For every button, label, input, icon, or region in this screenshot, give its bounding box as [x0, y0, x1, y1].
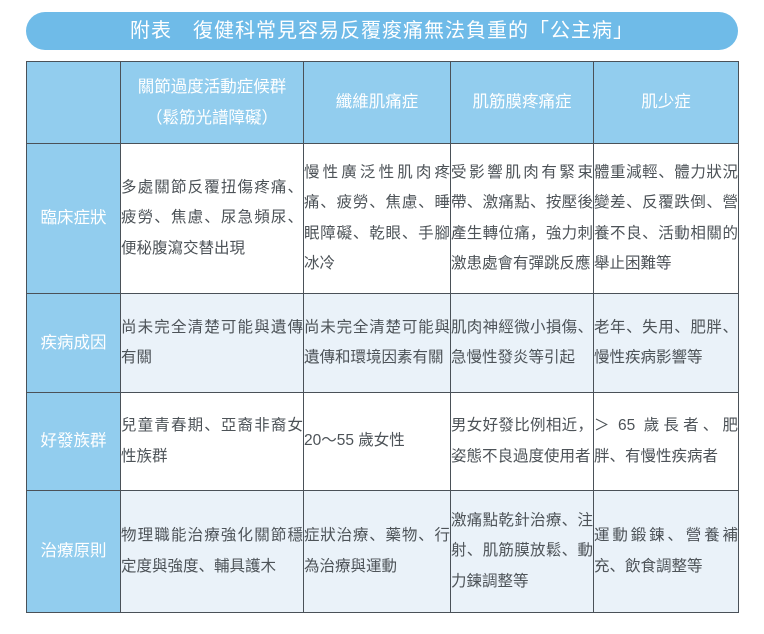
table-title-text: 附表 復健科常見容易反覆痠痛無法負重的「公主病」 [130, 21, 634, 41]
cell-treatment-mps: 激痛點乾針治療、注射、肌筋膜放鬆、動力鍊調整等 [451, 491, 594, 613]
table-row: 疾病成因 尚未完全清楚可能與遺傳有關 尚未完全清楚可能與遺傳和環境因素有關 肌肉… [27, 294, 739, 393]
header-cell-jhs: 關節過度活動症候群 （鬆筋光譜障礙） [121, 62, 304, 144]
cell-risk-sarco: ＞ 65 歲長者、肥胖、有慢性疾病者 [594, 393, 739, 491]
cell-risk-fms: 20～55 歲女性 [304, 393, 451, 491]
disease-comparison-table: 關節過度活動症候群 （鬆筋光譜障礙） 纖維肌痛症 肌筋膜疼痛症 肌少症 臨床症狀… [26, 61, 739, 613]
table-title-banner: 附表 復健科常見容易反覆痠痛無法負重的「公主病」 [26, 12, 738, 50]
header-jhs-line1: 關節過度活動症候群 [121, 72, 303, 103]
cell-symptoms-sarco: 體重減輕、體力狀況變差、反覆跌倒、營養不良、活動相關的舉止困難等 [594, 144, 739, 294]
header-jhs-line2: （鬆筋光譜障礙） [121, 103, 303, 134]
cell-treatment-jhs: 物理職能治療強化關節穩定度與強度、輔具護木 [121, 491, 304, 613]
header-sarco-line1: 肌少症 [594, 87, 738, 118]
cell-cause-mps: 肌肉神經微小損傷、急慢性發炎等引起 [451, 294, 594, 393]
cell-cause-sarco: 老年、失用、肥胖、慢性疾病影響等 [594, 294, 739, 393]
header-fms-line1: 纖維肌痛症 [304, 87, 450, 118]
cell-treatment-sarco: 運動鍛鍊、營養補充、飲食調整等 [594, 491, 739, 613]
header-mps-line1: 肌筋膜疼痛症 [451, 87, 593, 118]
row-label-symptoms: 臨床症狀 [27, 144, 121, 294]
table-row: 好發族群 兒童青春期、亞裔非裔女性族群 20～55 歲女性 男女好發比例相近，姿… [27, 393, 739, 491]
cell-risk-mps: 男女好發比例相近，姿態不良過度使用者 [451, 393, 594, 491]
cell-treatment-fms: 症狀治療、藥物、行為治療與運動 [304, 491, 451, 613]
row-label-treatment: 治療原則 [27, 491, 121, 613]
header-cell-sarco: 肌少症 [594, 62, 739, 144]
cell-symptoms-fms: 慢性廣泛性肌肉疼痛、疲勞、焦慮、睡眠障礙、乾眼、手腳冰冷 [304, 144, 451, 294]
cell-symptoms-jhs: 多處關節反覆扭傷疼痛、疲勞、焦慮、尿急頻尿、便秘腹瀉交替出現 [121, 144, 304, 294]
cell-cause-fms: 尚未完全清楚可能與遺傳和環境因素有關 [304, 294, 451, 393]
table-header-row: 關節過度活動症候群 （鬆筋光譜障礙） 纖維肌痛症 肌筋膜疼痛症 肌少症 [27, 62, 739, 144]
row-label-risk-group: 好發族群 [27, 393, 121, 491]
cell-cause-jhs: 尚未完全清楚可能與遺傳有關 [121, 294, 304, 393]
cell-symptoms-mps: 受影響肌肉有緊束帶、激痛點、按壓後產生轉位痛，強力刺激患處會有彈跳反應 [451, 144, 594, 294]
header-cell-corner [27, 62, 121, 144]
cell-risk-jhs: 兒童青春期、亞裔非裔女性族群 [121, 393, 304, 491]
table-row: 臨床症狀 多處關節反覆扭傷疼痛、疲勞、焦慮、尿急頻尿、便秘腹瀉交替出現 慢性廣泛… [27, 144, 739, 294]
header-cell-fms: 纖維肌痛症 [304, 62, 451, 144]
table-row: 治療原則 物理職能治療強化關節穩定度與強度、輔具護木 症狀治療、藥物、行為治療與… [27, 491, 739, 613]
header-cell-mps: 肌筋膜疼痛症 [451, 62, 594, 144]
row-label-cause: 疾病成因 [27, 294, 121, 393]
